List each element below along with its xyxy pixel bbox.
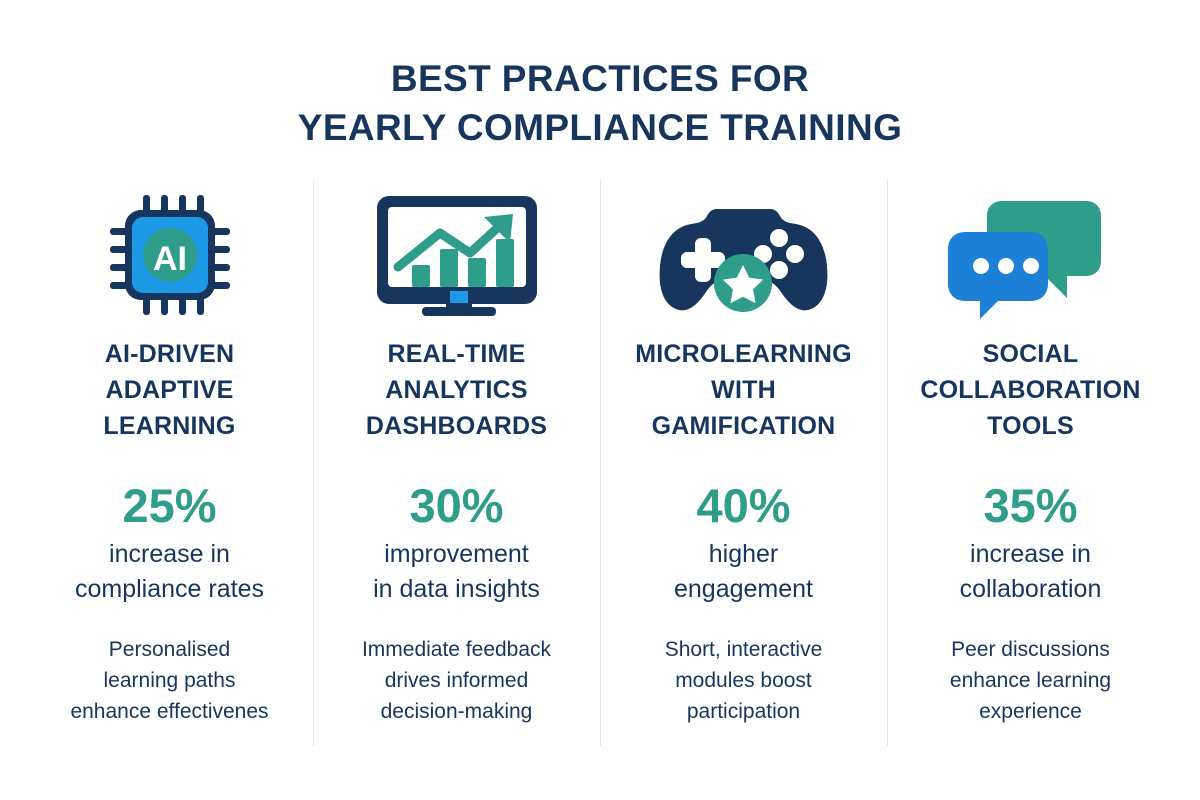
column-heading: MICROLEARNING WITH GAMIFICATION bbox=[635, 336, 851, 444]
column-description: Short, interactive modules boost partici… bbox=[665, 634, 823, 727]
title-line-2: YEARLY COMPLIANCE TRAINING bbox=[0, 103, 1200, 152]
stat-label: increase in collaboration bbox=[960, 537, 1102, 607]
stat-number: 25% bbox=[122, 480, 216, 532]
practice-column-microlearning-with-gamification: MICROLEARNING WITH GAMIFICATION 40% high… bbox=[600, 180, 887, 746]
practice-column-ai-driven-adaptive-learning: AI AI-DRIVEN ADAPTIVE LEARNING 25% incre… bbox=[26, 180, 313, 746]
column-description: Immediate feedback drives informed decis… bbox=[362, 634, 551, 727]
column-description: Peer discussions enhance learning experi… bbox=[950, 634, 1111, 727]
page-title: BEST PRACTICES FOR YEARLY COMPLIANCE TRA… bbox=[0, 54, 1200, 152]
practices-columns: AI AI-DRIVEN ADAPTIVE LEARNING 25% incre… bbox=[26, 180, 1174, 746]
column-description: Personalised learning paths enhance effe… bbox=[70, 634, 268, 727]
column-heading: SOCIAL COLLABORATION TOOLS bbox=[920, 336, 1140, 444]
stat-label: higher engagement bbox=[674, 537, 813, 607]
practice-column-social-collaboration-tools: SOCIAL COLLABORATION TOOLS 35% increase … bbox=[887, 180, 1174, 746]
infographic-root: BEST PRACTICES FOR YEARLY COMPLIANCE TRA… bbox=[0, 0, 1200, 800]
title-line-1: BEST PRACTICES FOR bbox=[0, 54, 1200, 103]
stat-number: 40% bbox=[696, 480, 790, 532]
stat-label: increase in compliance rates bbox=[75, 537, 264, 607]
svg-text:AI: AI bbox=[153, 240, 187, 278]
column-heading: REAL-TIME ANALYTICS DASHBOARDS bbox=[366, 336, 547, 444]
column-heading: AI-DRIVEN ADAPTIVE LEARNING bbox=[103, 336, 235, 444]
practice-column-real-time-analytics-dashboards: REAL-TIME ANALYTICS DASHBOARDS 30% impro… bbox=[313, 180, 600, 746]
stat-number: 30% bbox=[409, 480, 503, 532]
stat-number: 35% bbox=[983, 480, 1077, 532]
stat-label: improvement in data insights bbox=[373, 537, 540, 607]
ai-chip-icon: AI bbox=[106, 180, 234, 330]
speech-bubbles-icon bbox=[948, 180, 1113, 330]
gamepad-star-icon bbox=[656, 180, 831, 330]
analytics-monitor-icon bbox=[372, 180, 542, 330]
